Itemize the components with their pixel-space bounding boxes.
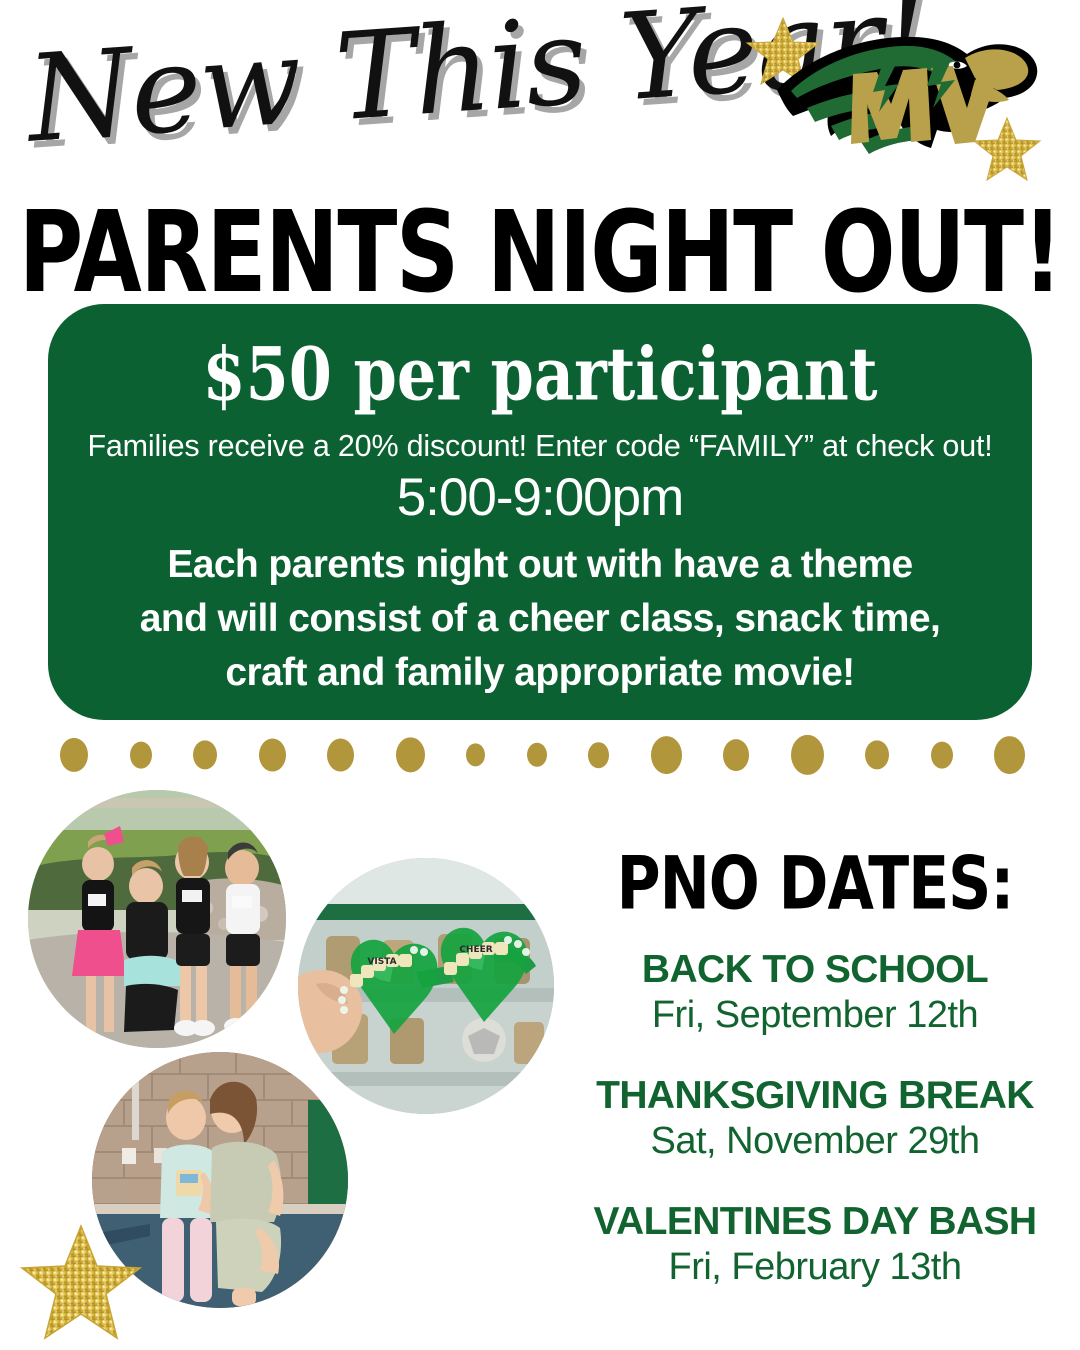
gold-dot (588, 742, 609, 768)
date-item-back-to-school: BACK TO SCHOOL Fri, September 12th (560, 946, 1070, 1038)
gold-dot (130, 742, 152, 769)
description-line-2: and will consist of a cheer class, snack… (82, 592, 998, 646)
gold-dot (791, 735, 824, 775)
gold-star-small-bottom (974, 118, 1040, 180)
eagle-head-logo-svg (735, 12, 1065, 197)
gold-dot (527, 743, 547, 767)
description-line-3: craft and family appropriate movie! (82, 646, 998, 700)
svg-text:CHEER: CHEER (459, 945, 492, 955)
photo-group-cheerleaders (28, 790, 286, 1048)
gold-dot (931, 742, 953, 769)
description-line-1: Each parents night out with have a theme (82, 538, 998, 592)
event-time: 5:00-9:00pm (82, 466, 998, 530)
gold-star-large-svg (18, 1222, 144, 1344)
discount-note: Families receive a 20% discount! Enter c… (82, 428, 998, 464)
gold-dot (865, 740, 889, 769)
photo-group-art (28, 790, 286, 1048)
gold-dot (60, 738, 88, 772)
photo-cheer-sunglasses: VISTA CHEER (298, 858, 554, 1114)
eagle-head-mark (777, 37, 1037, 154)
gold-dot (327, 739, 354, 772)
gold-dot (466, 743, 485, 766)
date-name: THANKSGIVING BREAK (560, 1072, 1070, 1119)
script-headline: New This Year! (21, 0, 752, 198)
gold-dot (994, 736, 1025, 774)
school-logo (735, 12, 1065, 197)
gold-dot (259, 739, 286, 772)
date-item-valentines-day-bash: VALENTINES DAY BASH Fri, February 13th (560, 1198, 1070, 1290)
gold-dot (723, 739, 749, 771)
gold-dot (651, 736, 682, 774)
page-title-text: PARENTS NIGHT OUT! (19, 186, 1061, 318)
dates-section: PNO DATES: BACK TO SCHOOL Fri, September… (560, 840, 1070, 1290)
event-description: Each parents night out with have a theme… (82, 538, 998, 700)
gold-dot (193, 740, 217, 769)
gold-star-large (18, 1222, 144, 1344)
date-item-thanksgiving-break: THANKSGIVING BREAK Sat, November 29th (560, 1072, 1070, 1164)
date-when: Sat, November 29th (560, 1119, 1070, 1164)
date-name: BACK TO SCHOOL (560, 946, 1070, 993)
page-title: PARENTS NIGHT OUT! (0, 186, 1080, 319)
date-when: Fri, September 12th (560, 993, 1070, 1038)
dates-heading: PNO DATES: (560, 840, 1070, 928)
gold-dot-divider (60, 734, 1025, 776)
date-name: VALENTINES DAY BASH (560, 1198, 1070, 1245)
gold-dot (396, 737, 425, 772)
price-heading: $50 per participant (82, 318, 998, 431)
offer-panel: $50 per participant Families receive a 2… (48, 304, 1032, 720)
parents-night-out-flyer: New This Year! (0, 0, 1080, 1350)
date-when: Fri, February 13th (560, 1245, 1070, 1290)
svg-text:VISTA: VISTA (367, 957, 396, 967)
photo-glasses-art: VISTA CHEER (298, 858, 554, 1114)
